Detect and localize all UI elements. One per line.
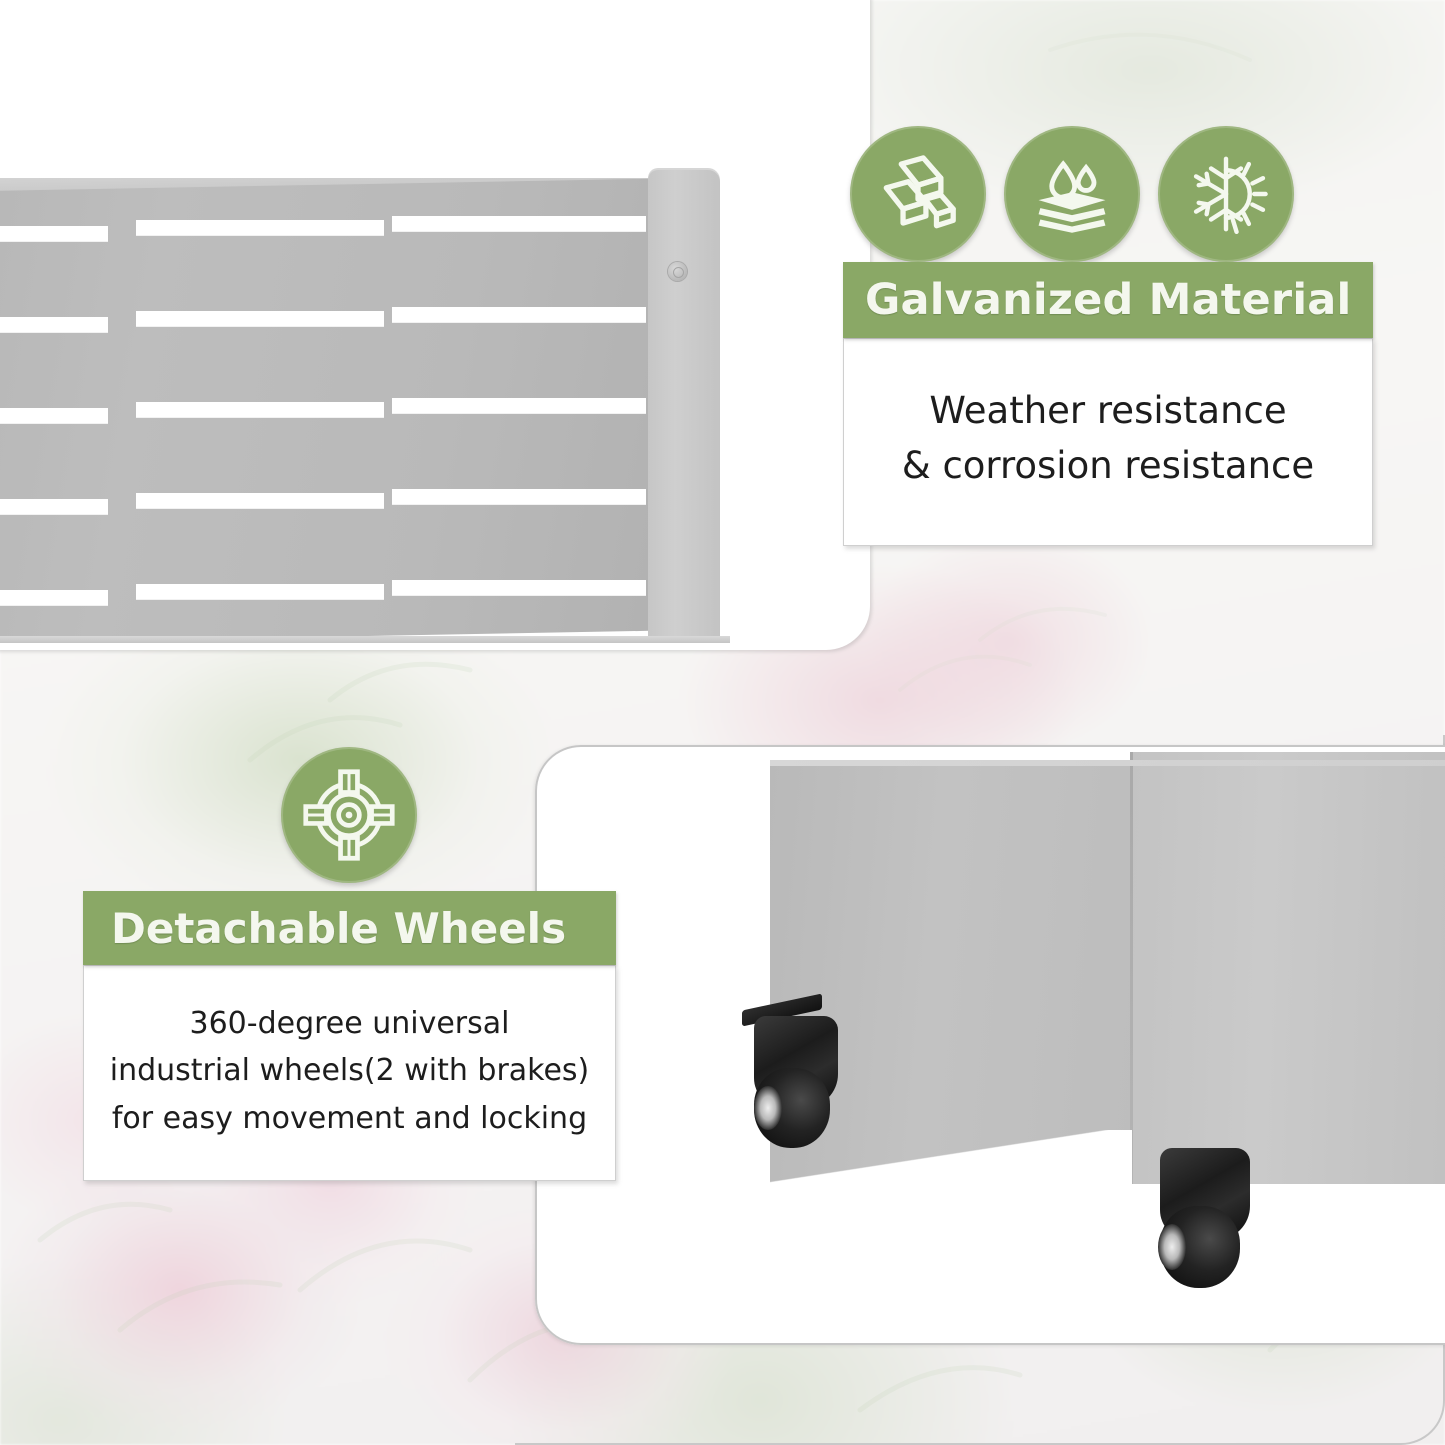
slat-gap xyxy=(392,216,646,232)
cabinet-corner-seam xyxy=(1130,752,1133,1184)
caster-hub xyxy=(1158,1224,1186,1270)
slat-gap xyxy=(392,307,646,323)
card-body-detachable-wheels: 360-degree universal industrial wheels(2… xyxy=(83,965,616,1181)
card-body-galvanized: Weather resistance & corrosion resistanc… xyxy=(843,338,1373,546)
slat-gap xyxy=(392,489,646,505)
cabinet-side-wrap xyxy=(648,170,720,640)
slat-gap xyxy=(392,580,646,596)
cabinet-bottom-bevel xyxy=(770,1130,1132,1186)
galvanized-icon-row xyxy=(850,126,1294,262)
slat-gap xyxy=(136,311,384,327)
slatted-cabinet-illustration xyxy=(0,178,720,648)
wheels-icon-row xyxy=(281,747,417,883)
card-body-line: Weather resistance xyxy=(860,384,1356,439)
slat-gap xyxy=(136,493,384,509)
card-body-line: industrial wheels(2 with brakes) xyxy=(96,1047,603,1094)
card-title-galvanized: Galvanized Material xyxy=(843,262,1373,338)
screw-head-icon xyxy=(668,262,687,281)
slat-gap xyxy=(392,398,646,414)
slat-gap xyxy=(0,408,108,424)
slat-gap xyxy=(0,317,108,333)
metal-ingots-icon xyxy=(850,126,986,262)
infographic-stage: Galvanized Material Weather resistance &… xyxy=(0,0,1445,1445)
cabinet-body-right-face xyxy=(1132,752,1445,1184)
slat-gap xyxy=(136,402,384,418)
card-title-detachable-wheels: Detachable Wheels xyxy=(83,891,616,965)
water-repellent-layers-icon xyxy=(1004,126,1140,262)
slat-gap xyxy=(0,226,108,242)
snowflake-sun-icon xyxy=(1158,126,1294,262)
caster-hub xyxy=(754,1086,782,1130)
card-body-line: & corrosion resistance xyxy=(860,439,1356,494)
slat-gap xyxy=(136,220,384,236)
cabinet-top-highlight xyxy=(770,760,1445,766)
card-body-line: 360-degree universal xyxy=(96,1000,603,1047)
cabinet-bottom-edge xyxy=(0,636,730,643)
slat-gap xyxy=(136,584,384,600)
slat-gap xyxy=(0,590,108,606)
slat-gap xyxy=(0,499,108,515)
swivel-target-icon xyxy=(281,747,417,883)
card-body-line: for easy movement and locking xyxy=(96,1095,603,1142)
